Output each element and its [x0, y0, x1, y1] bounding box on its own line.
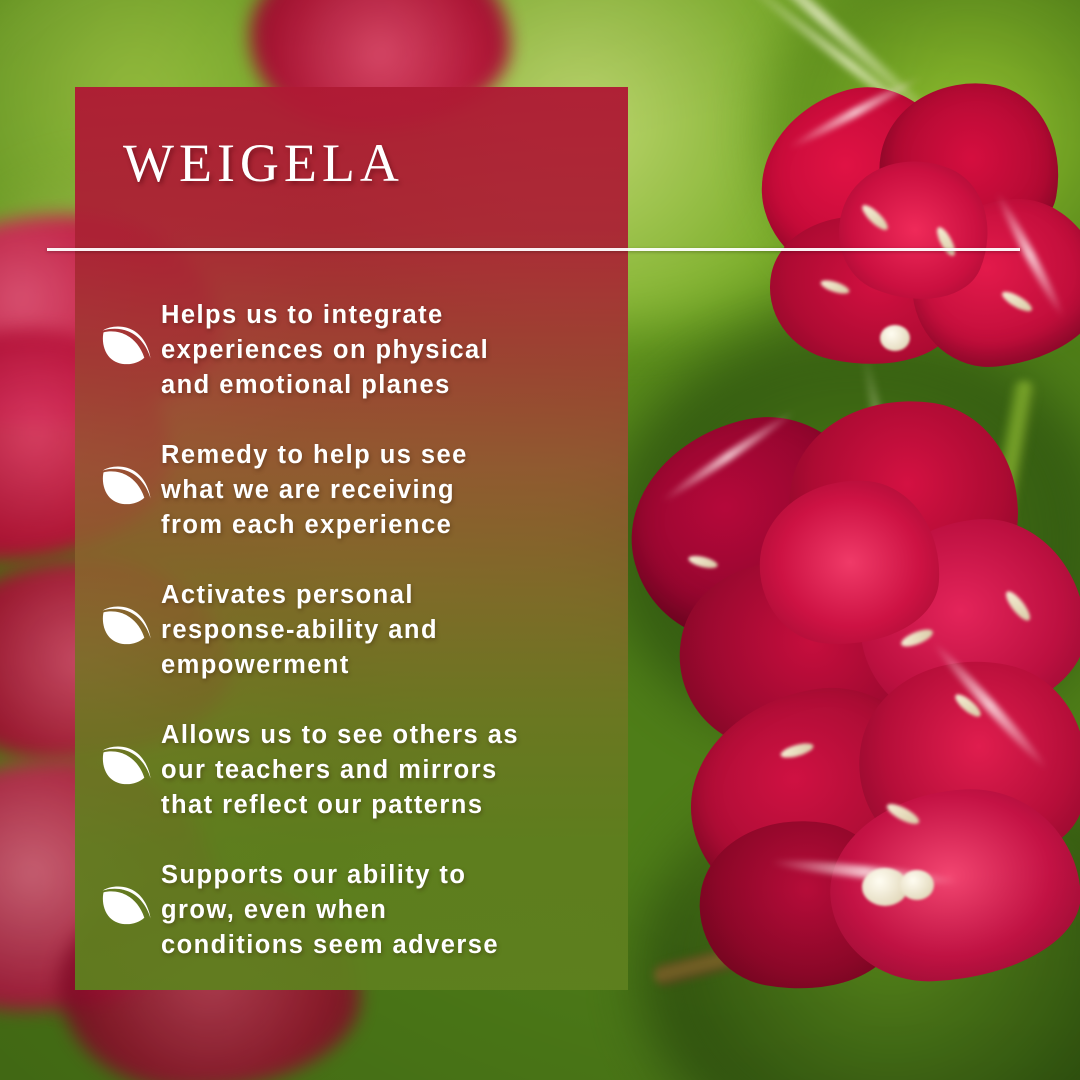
list-item: Remedy to help us see what we are receiv…: [99, 432, 609, 551]
leaf-icon: [99, 712, 161, 794]
weigela-info-card: WEIGELA Helps us to integrate experience…: [0, 0, 1080, 1080]
leaf-icon: [99, 292, 161, 374]
list-item-label: Supports our ability to grow, even when …: [161, 852, 609, 963]
list-item: Supports our ability to grow, even when …: [99, 852, 609, 971]
list-item: Activates personal response-ability and …: [99, 572, 609, 691]
page-title: WEIGELA: [123, 136, 404, 190]
list-item-label: Remedy to help us see what we are receiv…: [161, 432, 609, 543]
list-item: Allows us to see others as our teachers …: [99, 712, 609, 831]
list-item: Helps us to integrate experiences on phy…: [99, 292, 609, 411]
anther-3: [880, 325, 910, 351]
title-divider: [47, 248, 1020, 251]
benefits-list: Helps us to integrate experiences on phy…: [99, 292, 609, 992]
list-item-label: Activates personal response-ability and …: [161, 572, 609, 683]
leaf-icon: [99, 572, 161, 654]
leaf-icon: [99, 432, 161, 514]
list-item-label: Allows us to see others as our teachers …: [161, 712, 609, 823]
anther-2: [900, 870, 934, 900]
leaf-icon: [99, 852, 161, 934]
list-item-label: Helps us to integrate experiences on phy…: [161, 292, 609, 403]
